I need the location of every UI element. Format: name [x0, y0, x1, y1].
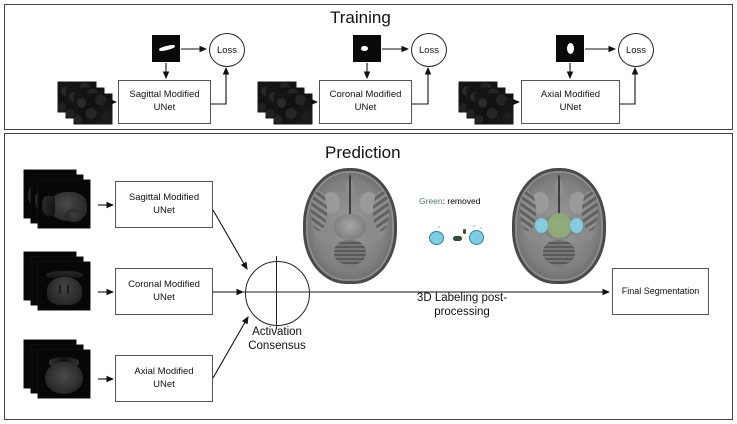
- prediction-sagittal-unet-line1: Sagittal Modified: [129, 192, 199, 203]
- training-sagittal-loss-label: Loss: [217, 45, 237, 56]
- prediction-coronal-unet-box: Coronal Modified UNet: [115, 268, 213, 315]
- postprocessing-label: 3D Labeling post- processing: [392, 291, 532, 320]
- prediction-section-title: Prediction: [325, 143, 401, 163]
- legend-blob-speck-c: [480, 227, 482, 229]
- segmentation-overlay-green: [548, 213, 572, 237]
- segmentation-overlay-cyan-right: [570, 218, 583, 233]
- legend-value-removed: removed: [447, 196, 480, 206]
- prediction-axial-unet-line1: Axial Modified: [134, 366, 193, 377]
- training-axial-unet-line1: Axial Modified: [541, 89, 600, 100]
- prediction-axial-unet-box: Axial Modified UNet: [115, 355, 213, 402]
- training-sagittal-loss-node: Loss: [209, 33, 245, 67]
- training-axial-loss-node: Loss: [618, 33, 654, 67]
- activation-consensus-line2: Consensus: [236, 339, 318, 353]
- postprocessing-line1: 3D Labeling post-: [392, 291, 532, 305]
- axial-ground-truth-mask: [556, 35, 584, 62]
- final-segmentation-box: Final Segmentation: [612, 268, 709, 315]
- legend-blob-center-green: [453, 236, 462, 241]
- axial-slice-stack-training: [459, 82, 517, 124]
- prediction-axial-input-stack: [24, 340, 96, 400]
- prediction-coronal-input-stack: [24, 252, 96, 312]
- training-sagittal-unet-box: Sagittal Modified UNet: [118, 80, 211, 124]
- activation-consensus-label: Activation Consensus: [236, 325, 318, 354]
- coronal-slice-stack-training: [258, 82, 316, 124]
- consensus-vertical-axis: [276, 256, 277, 329]
- legend-green-removed: Green: removed: [419, 196, 480, 206]
- activation-consensus-circle: [245, 261, 310, 326]
- legend-blob-speck-a: [438, 226, 440, 228]
- training-sagittal-unet-line1: Sagittal Modified: [129, 89, 199, 100]
- training-axial-unet-line2: UNet: [560, 102, 582, 113]
- postprocessing-line2: processing: [392, 305, 532, 319]
- legend-key-green: Green: [419, 196, 443, 206]
- training-axial-loss-label: Loss: [626, 45, 646, 56]
- prediction-axial-unet-line2: UNet: [153, 379, 175, 390]
- legend-blob-left-cyan: [430, 232, 443, 244]
- axial-brain-post-postprocessing: [512, 168, 606, 284]
- final-segmentation-label: Final Segmentation: [622, 285, 700, 297]
- legend-blob-speck-b: [473, 225, 475, 227]
- legend-blob-cluster: [428, 224, 488, 248]
- training-coronal-unet-line1: Coronal Modified: [330, 89, 402, 100]
- prediction-sagittal-unet-box: Sagittal Modified UNet: [115, 181, 213, 228]
- training-coronal-loss-label: Loss: [419, 45, 439, 56]
- activation-consensus-line1: Activation: [236, 325, 318, 339]
- axial-brain-pre-postprocessing: [303, 168, 397, 284]
- training-axial-unet-box: Axial Modified UNet: [521, 80, 620, 124]
- coronal-ground-truth-mask: [353, 35, 381, 62]
- training-coronal-loss-node: Loss: [411, 33, 447, 67]
- sagittal-ground-truth-mask: [152, 35, 180, 62]
- prediction-sagittal-unet-line2: UNet: [153, 205, 175, 216]
- prediction-sagittal-input-stack: [24, 170, 96, 230]
- legend-blob-right-cyan: [470, 231, 483, 244]
- prediction-coronal-unet-line2: UNet: [153, 292, 175, 303]
- training-sagittal-unet-line2: UNet: [154, 102, 176, 113]
- training-coronal-unet-line2: UNet: [355, 102, 377, 113]
- figure-canvas: Training Sagittal Modified UNet Loss Cor…: [0, 0, 737, 424]
- sagittal-slice-stack-training: [58, 82, 116, 124]
- training-section-title: Training: [330, 8, 391, 28]
- legend-blob-center-green-speck: [463, 229, 466, 234]
- prediction-coronal-unet-line1: Coronal Modified: [128, 279, 200, 290]
- training-coronal-unet-box: Coronal Modified UNet: [319, 80, 412, 124]
- segmentation-overlay-cyan-left: [535, 218, 548, 233]
